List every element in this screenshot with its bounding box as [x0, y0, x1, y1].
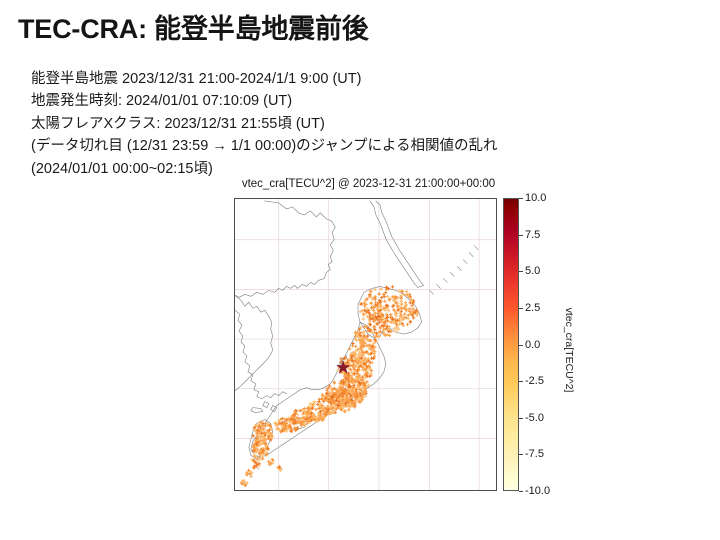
body-line-4: (データ切れ目 (12/31 23:59 → 1/1 00:00)のジャンプによ…: [31, 135, 498, 157]
body-line-5: (2024/01/01 00:00~02:15頃): [31, 158, 498, 180]
map-gridlines: [235, 199, 496, 490]
colorbar-tick-label: -5.0: [525, 412, 544, 424]
colorbar-tick: [519, 454, 523, 455]
colorbar-tick-label: 2.5: [525, 302, 540, 314]
page-title: TEC-CRA: 能登半島地震前後: [18, 14, 369, 45]
chart-title: vtec_cra[TECU^2] @ 2023-12-31 21:00:00+0…: [196, 178, 541, 190]
colorbar-tick-label: 10.0: [525, 192, 546, 204]
colorbar-tick: [519, 235, 523, 236]
body-line-1: 能登半島地震 2023/12/31 21:00-2024/1/1 9:00 (U…: [31, 68, 498, 90]
colorbar-tick-label: -10.0: [525, 485, 550, 497]
colorbar-tick: [519, 418, 523, 419]
colorbar-tick: [519, 308, 523, 309]
colorbar-axis-label: vtec_cra[TECU^2]: [563, 308, 575, 393]
body-line-3: 太陽フレアXクラス: 2023/12/31 21:55頃 (UT): [31, 113, 498, 135]
colorbar[interactable]: 10.0 7.5 5.0 2.5 0.0 -2.5 -5.0 -7.5 -10.…: [503, 198, 519, 491]
colorbar-tick-label: 5.0: [525, 265, 540, 277]
colorbar-tick: [519, 345, 523, 346]
colorbar-tick: [519, 491, 523, 492]
station-scatter-points: [240, 286, 418, 487]
map-svg: [235, 199, 496, 490]
colorbar-tick-label: 7.5: [525, 229, 540, 241]
colorbar-tick: [519, 198, 523, 199]
slide-body-text: 能登半島地震 2023/12/31 21:00-2024/1/1 9:00 (U…: [31, 68, 498, 180]
figure-vtec-cra-map: vtec_cra[TECU^2] @ 2023-12-31 21:00:00+0…: [196, 178, 568, 498]
map-plot-area[interactable]: [234, 198, 497, 491]
colorbar-tick-label: -2.5: [525, 375, 544, 387]
map-coastlines: [235, 201, 478, 485]
colorbar-gradient: [503, 198, 519, 491]
colorbar-tick: [519, 381, 523, 382]
colorbar-tick: [519, 271, 523, 272]
colorbar-tick-label: 0.0: [525, 339, 540, 351]
body-line-2: 地震発生時刻: 2024/01/01 07:10:09 (UT): [31, 90, 498, 112]
colorbar-tick-label: -7.5: [525, 448, 544, 460]
